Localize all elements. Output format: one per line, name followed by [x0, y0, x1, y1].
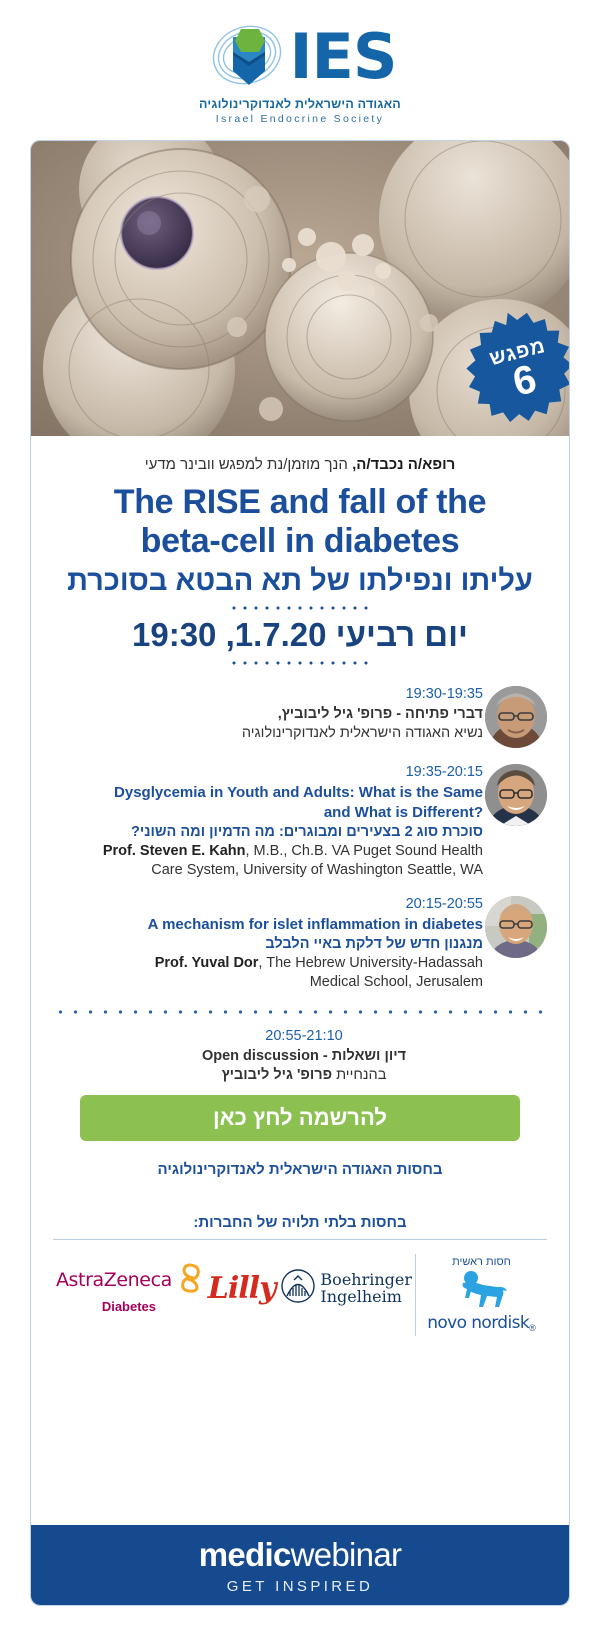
- session-title-he-dark: - פרופ' גיל ליבוביץ,: [278, 706, 405, 722]
- session-title-en-line2: and What is Different?: [61, 803, 483, 823]
- session-title: דברי פתיחה - פרופ' גיל ליבוביץ,: [61, 705, 483, 724]
- medicwebinar-logo: medicwebinar: [199, 1536, 402, 1574]
- endorsement-text: בחסות האגודה הישראלית לאנדוקרינולוגיה: [53, 1161, 547, 1178]
- session-affiliation: נשיא האגודה הישראלית לאנדוקרינולוגיה: [61, 724, 483, 743]
- speaker-name: Prof. Yuval Dor: [155, 955, 259, 971]
- sponsor-astrazeneca[interactable]: AstraZeneca Diabetes: [56, 1263, 202, 1314]
- list-item: 20:55-21:10 דיון ושאלות - Open discussio…: [53, 1028, 547, 1085]
- list-item: 19:35-20:15 Dysglycemia in Youth and Adu…: [53, 764, 547, 880]
- astrazeneca-sub: Diabetes: [56, 1299, 202, 1314]
- sponsor-lilly[interactable]: Lilly: [208, 1271, 276, 1306]
- sponsor-row: AstraZeneca Diabetes Lilly: [53, 1240, 547, 1336]
- session-title-he: סוכרת סוג 2 בצעירים ומבוגרים: מה הדמיון …: [61, 823, 483, 842]
- badge-number: 6: [509, 359, 540, 401]
- moderator-name: פרופ' גיל ליבוביץ: [222, 1067, 332, 1083]
- agenda-list: 19:30-19:35 דברי פתיחה - פרופ' גיל ליבוב…: [53, 686, 547, 1085]
- session-text: 20:55-21:10 דיון ושאלות - Open discussio…: [53, 1028, 547, 1085]
- dotted-divider-agenda: [53, 1008, 547, 1016]
- session-time: 20:15-20:55: [61, 896, 483, 912]
- boehringer-arch-icon: [281, 1269, 315, 1308]
- register-button[interactable]: להרשמה לחץ כאן: [80, 1095, 520, 1141]
- brand-thin: webinar: [291, 1536, 402, 1573]
- astrazeneca-lockup: AstraZeneca: [56, 1263, 202, 1298]
- session-title-he-dark: דיון ושאלות: [332, 1048, 406, 1064]
- speaker-detail: , The Hebrew University-Hadassah: [258, 955, 483, 971]
- page-title-english: The RISE and fall of the beta-cell in di…: [53, 483, 547, 561]
- brand-bold: medic: [199, 1536, 291, 1573]
- session-text: 20:15-20:55 A mechanism for islet inflam…: [53, 896, 483, 992]
- session-speaker-line2: Medical School, Jerusalem: [61, 973, 483, 992]
- moderator-prefix: בהנחיית: [332, 1067, 386, 1083]
- speaker-detail: , M.B., Ch.B. VA Puget Sound Health: [245, 843, 483, 859]
- speaker-avatar: [485, 764, 547, 826]
- novo-nordisk-name: novo nordisk: [427, 1313, 529, 1333]
- ies-acronym: IES: [289, 26, 396, 88]
- list-item: 19:30-19:35 דברי פתיחה - פרופ' גיל ליבוב…: [53, 686, 547, 748]
- ies-english-name: Israel Endocrine Society: [216, 113, 384, 125]
- invitation-body: רופא/ה נכבד/ה, הנך מוזמן/נת למפגש וובינר…: [31, 436, 569, 1336]
- list-item: 20:15-20:55 A mechanism for islet inflam…: [53, 896, 547, 992]
- boehringer-line1: Boehringer: [320, 1271, 412, 1288]
- boehringer-text: Boehringer Ingelheim: [320, 1271, 412, 1305]
- session-time: 19:30-19:35: [61, 686, 483, 702]
- novo-nordisk-apis-bull-icon: [453, 1270, 511, 1313]
- registered-mark: ®: [529, 1323, 536, 1333]
- greeting-line: רופא/ה נכבד/ה, הנך מוזמן/נת למפגש וובינר…: [53, 456, 547, 473]
- session-speaker-line1: Prof. Steven E. Kahn, M.B., Ch.B. VA Pug…: [61, 842, 483, 861]
- session-speaker-line2: Care System, University of Washington Se…: [61, 861, 483, 880]
- ies-hexagon-wave-icon: [203, 21, 295, 93]
- speaker-avatar: [485, 896, 547, 958]
- astrazeneca-name: AstraZeneca: [56, 1269, 172, 1291]
- speaker-name: Prof. Steven E. Kahn: [103, 843, 246, 859]
- page-title-hebrew: עליתו ונפילתו של תא הבטא בסוכרת: [53, 563, 547, 599]
- invitation-card: מפגש 6 רופא/ה נכבד/ה, הנך מוזמן/נת למפגש…: [30, 140, 570, 1606]
- session-text: 19:35-20:15 Dysglycemia in Youth and Adu…: [53, 764, 483, 880]
- session-title-en-line1: A mechanism for islet inflammation in di…: [61, 915, 483, 935]
- ies-hebrew-name: האגודה הישראלית לאנדוקרינולוגיה: [199, 97, 401, 111]
- title-en-line2: beta-cell in diabetes: [53, 522, 547, 561]
- webinar-invitation-page: IES האגודה הישראלית לאנדוקרינולוגיה Isra…: [0, 0, 600, 1636]
- sponsor-logos: AstraZeneca Diabetes Lilly: [53, 1240, 415, 1336]
- session-speaker-line1: Prof. Yuval Dor, The Hebrew University-H…: [61, 954, 483, 973]
- sponsor-primary[interactable]: חסות ראשית novo nordisk ®: [415, 1254, 547, 1336]
- sponsor-boehringer-ingelheim[interactable]: Boehringer Ingelheim: [281, 1269, 412, 1308]
- astrazeneca-swirl-icon: [172, 1263, 202, 1298]
- greeting-bold: רופא/ה נכבד/ה,: [352, 456, 455, 473]
- title-en-line1: The RISE and fall of the: [53, 483, 547, 522]
- event-date: יום רביעי 1.7.20, 19:30: [53, 616, 547, 654]
- greeting-rest: הנך מוזמן/נת למפגש וובינר מדעי: [145, 456, 352, 473]
- session-title-he-blue: דברי פתיחה: [405, 706, 483, 722]
- dotted-divider-top: [225, 603, 375, 613]
- session-title: דיון ושאלות - Open discussion: [61, 1047, 547, 1066]
- sponsors-heading: בחסות בלתי תלויה של החברות:: [53, 1214, 547, 1231]
- session-text: 19:30-19:35 דברי פתיחה - פרופ' גיל ליבוב…: [53, 686, 483, 743]
- session-time: 20:55-21:10: [61, 1028, 547, 1044]
- dotted-divider-bottom: [225, 658, 375, 668]
- session-title-he: מנגנון חדש של דלקת באיי הלבלב: [61, 935, 483, 954]
- session-title-en-line1: Dysglycemia in Youth and Adults: What is…: [61, 783, 483, 803]
- session-title-en-blue: - Open discussion: [202, 1048, 332, 1064]
- ies-logo: IES האגודה הישראלית לאנדוקרינולוגיה Isra…: [0, 0, 600, 132]
- ies-logo-lockup: IES: [203, 21, 396, 93]
- session-time: 19:35-20:15: [61, 764, 483, 780]
- footer-tagline: GET INSPIRED: [227, 1578, 373, 1595]
- boehringer-line2: Ingelheim: [320, 1288, 412, 1305]
- hero-image: מפגש 6: [31, 141, 569, 436]
- session-moderator: בהנחיית פרופ' גיל ליבוביץ: [61, 1066, 547, 1085]
- primary-sponsor-caption: חסות ראשית: [452, 1256, 511, 1268]
- footer-brand-bar: medicwebinar GET INSPIRED: [31, 1525, 569, 1605]
- speaker-avatar: [485, 686, 547, 748]
- novo-nordisk-lockup: novo nordisk ®: [427, 1313, 536, 1333]
